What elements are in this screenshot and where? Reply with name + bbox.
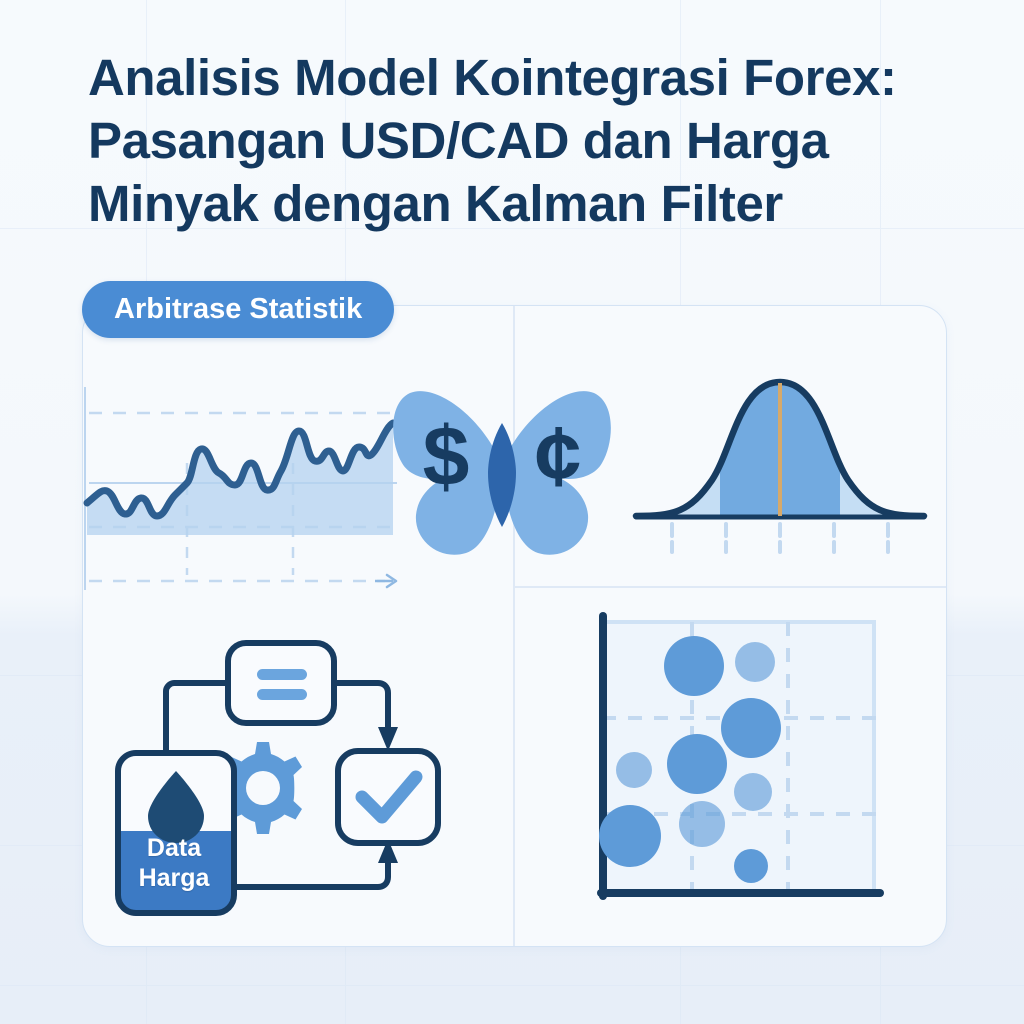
flow-node-data-harga — [118, 753, 234, 913]
equals-icon — [257, 669, 307, 680]
category-badge-label: Arbitrase Statistik — [114, 293, 362, 326]
panel-horizontal-divider — [513, 586, 946, 588]
page-title: Analisis Model Kointegrasi Forex: Pasang… — [88, 46, 968, 235]
flow-arrowhead-mid — [378, 727, 398, 751]
scatter-plot-right-rule — [872, 620, 876, 892]
currency-pair-butterfly: $ ¢ — [382, 365, 622, 580]
scatter-point — [679, 801, 725, 847]
category-badge[interactable]: Arbitrase Statistik — [82, 281, 394, 338]
process-flow-diagram — [100, 625, 520, 925]
scatter-point — [721, 698, 781, 758]
scatter-point — [734, 849, 768, 883]
distribution-ticks — [672, 524, 888, 552]
flow-connector-mid — [332, 683, 388, 729]
scatter-point — [734, 773, 772, 811]
cent-symbol: ¢ — [535, 409, 582, 503]
scatter-point — [667, 734, 727, 794]
scatter-point — [735, 642, 775, 682]
scatter-point — [616, 752, 652, 788]
flow-node-equals — [228, 643, 334, 723]
infographic-canvas: Analisis Model Kointegrasi Forex: Pasang… — [0, 0, 1024, 1024]
scatter-chart — [592, 612, 892, 917]
flow-node-check — [338, 751, 438, 843]
scatter-plot-top-rule — [602, 620, 876, 624]
timeseries-chart — [75, 385, 405, 600]
equals-icon-bar2 — [257, 689, 307, 700]
scatter-point — [599, 805, 661, 867]
scatter-point — [664, 636, 724, 696]
dollar-symbol: $ — [423, 409, 470, 503]
distribution-chart — [628, 330, 938, 580]
flow-connector-in — [166, 683, 228, 753]
